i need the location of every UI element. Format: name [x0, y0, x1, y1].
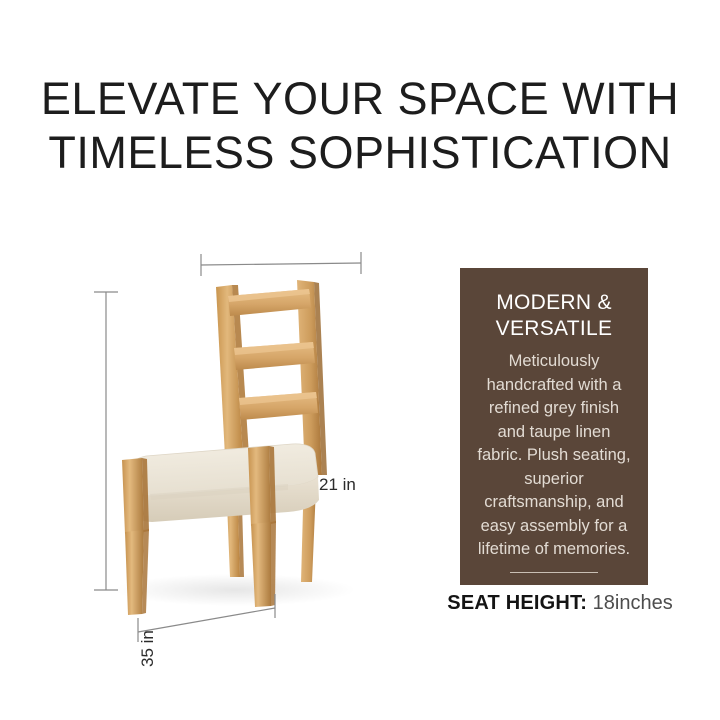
seat-height-value: 18inches: [593, 592, 673, 614]
headline-line-1: ELEVATE YOUR SPACE WITH: [41, 73, 679, 124]
floor-shadow: [115, 574, 355, 606]
feature-panel-title-line-1: MODERN &: [496, 291, 612, 314]
page-title: ELEVATE YOUR SPACE WITH TIMELESS SOPHIST…: [0, 72, 720, 180]
seat-height-spec: SEAT HEIGHT: 18inches: [418, 592, 702, 615]
feature-panel: MODERN & VERSATILE Meticulously handcraf…: [460, 268, 648, 585]
product-dimension-stage: 21 in 35 in 19 in: [60, 232, 410, 652]
feature-panel-title: MODERN & VERSATILE: [474, 290, 634, 342]
feature-panel-divider: [510, 572, 598, 573]
feature-panel-title-line-2: VERSATILE: [496, 317, 613, 340]
seat-height-label: SEAT HEIGHT:: [447, 592, 587, 614]
headline-line-2: TIMELESS SOPHISTICATION: [0, 126, 720, 180]
dimension-label-height: 35 in: [138, 630, 158, 667]
front-left-post: [122, 458, 144, 534]
dimension-line-height: [94, 292, 118, 590]
dimension-line-width: [201, 252, 361, 276]
front-right-post: [248, 446, 271, 526]
feature-panel-body: Meticulously handcrafted with a refined …: [474, 350, 634, 562]
chair-seat-cushion: [129, 444, 319, 522]
dimension-label-width: 21 in: [319, 475, 356, 495]
chair-diagram: [60, 232, 410, 652]
infographic-root: ELEVATE YOUR SPACE WITH TIMELESS SOPHIST…: [0, 0, 720, 720]
